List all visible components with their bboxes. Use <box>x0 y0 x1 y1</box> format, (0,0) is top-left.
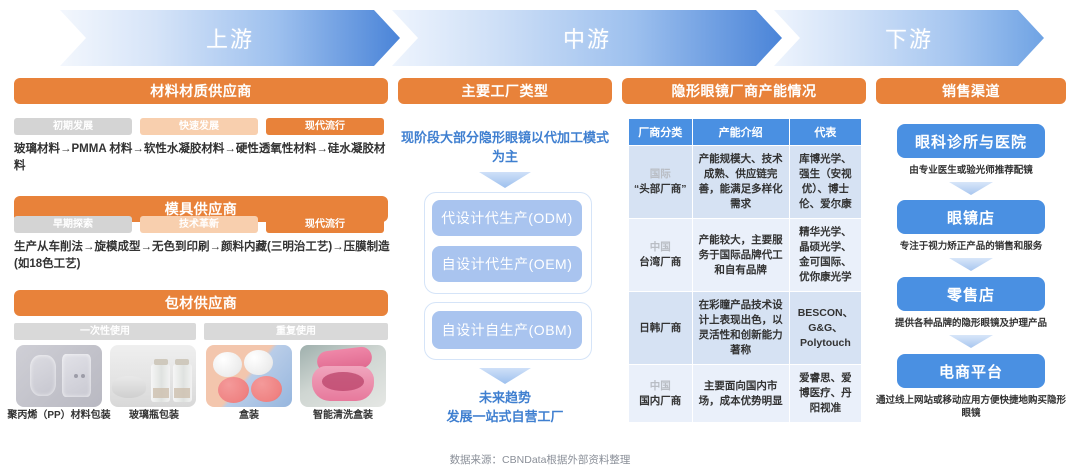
stage-arrow-upstream-label: 上游 <box>206 22 254 54</box>
cell-category-taiwan-main: 台湾厂商 <box>639 256 681 268</box>
section-header-material-supplier: 材料材质供应商 <box>14 78 388 104</box>
cell-category-domestic-dim: 中国 <box>650 380 671 392</box>
table-row: 中国 国内厂商 主要面向国内市场，成本优势明显 爱睿思、爱博医疗、丹阳视准 <box>629 365 862 423</box>
stage-arrow-bar: 上游 中游 下游 <box>0 10 1080 66</box>
cell-reps-international: 库博光学、强生（安视优）、博士伦、爱尔康 <box>789 146 861 219</box>
cell-category-taiwan: 中国 台湾厂商 <box>629 219 693 292</box>
stage-tag-mold-1: 早期探索 <box>14 216 132 233</box>
cell-category-international-main: “头部厂商” <box>634 183 687 195</box>
chevron-down-icon-channel-1 <box>949 182 993 195</box>
table-row: 日韩厂商 在彩瞳产品技术设计上表现出色，以灵活性和创新能力著称 BESCON、G… <box>629 292 862 365</box>
table-row: 国际 “头部厂商” 产能规模大、技术成熟、供应链完善，能满足多样化需求 库博光学… <box>629 146 862 219</box>
stage-tag-mold-2: 技术革新 <box>140 216 258 233</box>
cell-capacity-international: 产能规模大、技术成熟、供应链完善，能满足多样化需求 <box>692 146 789 219</box>
col-header-representatives: 代表 <box>789 119 861 146</box>
thumbnail-glass-vial <box>110 345 196 407</box>
channel-clinic-hospital-desc: 由专业医生或验光师推荐配镜 <box>876 164 1066 177</box>
channel-optical-store-desc: 专注于视力矫正产品的销售和服务 <box>876 240 1066 253</box>
thumbnail-caption-pp: 聚丙烯（PP）材料包装 <box>6 409 112 422</box>
factory-note-top: 现阶段大部分隐形眼镜以代加工模式为主 <box>400 128 610 166</box>
chevron-down-icon-top <box>479 172 531 188</box>
cell-category-japan-korea: 日韩厂商 <box>629 292 693 365</box>
col-header-capacity: 产能介绍 <box>692 119 789 146</box>
infographic-canvas: 上游 中游 下游 材料材质供应商 初期发展 快速发展 现代流行 玻璃材料→PMM… <box>0 0 1080 476</box>
section-header-packaging-supplier: 包材供应商 <box>14 290 388 316</box>
cell-category-domestic: 中国 国内厂商 <box>629 365 693 423</box>
stage-tag-mold-3: 现代流行 <box>266 216 384 233</box>
material-flow-text: 玻璃材料→PMMA 材料→软性水凝胶材料→硬性透氧性材料→硅水凝胶材料 <box>14 141 390 175</box>
cell-category-taiwan-dim: 中国 <box>650 241 671 253</box>
col-header-category: 厂商分类 <box>629 119 693 146</box>
cell-reps-taiwan: 精华光学、晶硕光学、金可国际、优你康光学 <box>789 219 861 292</box>
model-odm[interactable]: 代设计代生产(ODM) <box>432 200 582 236</box>
chevron-down-icon-channel-2 <box>949 258 993 271</box>
stage-arrow-upstream: 上游 <box>60 10 400 66</box>
chevron-down-icon-bottom <box>479 368 531 384</box>
cell-capacity-japan-korea: 在彩瞳产品技术设计上表现出色，以灵活性和创新能力著称 <box>692 292 789 365</box>
model-oem[interactable]: 自设计代生产(OEM) <box>432 246 582 282</box>
section-header-capacity: 隐形眼镜厂商产能情况 <box>622 78 866 104</box>
cell-reps-domestic: 爱睿思、爱博医疗、丹阳视准 <box>789 365 861 423</box>
stage-arrow-downstream: 下游 <box>774 10 1044 66</box>
table-header-row: 厂商分类 产能介绍 代表 <box>629 119 862 146</box>
cell-category-international: 国际 “头部厂商” <box>629 146 693 219</box>
thumbnail-smart-cleaner <box>300 345 386 407</box>
channel-retail-store[interactable]: 零售店 <box>897 277 1045 311</box>
stage-tag-material-1: 初期发展 <box>14 118 132 135</box>
channel-retail-store-desc: 提供各种品牌的隐形眼镜及护理产品 <box>876 317 1066 330</box>
channel-clinic-hospital[interactable]: 眼科诊所与医院 <box>897 124 1045 158</box>
source-note: 数据来源：CBNData根据外部资料整理 <box>0 452 1080 467</box>
cell-category-domestic-main: 国内厂商 <box>639 395 681 407</box>
model-obm[interactable]: 自设计自生产(OBM) <box>432 311 582 349</box>
channel-optical-store[interactable]: 眼镜店 <box>897 200 1045 234</box>
section-header-factory-type: 主要工厂类型 <box>398 78 612 104</box>
mold-flow-text: 生产从车削法→旋模成型→无色到印刷→颜料内藏(三明治工艺)→压膜制造(如18色工… <box>14 239 390 273</box>
thumbnail-caption-case: 盒装 <box>204 409 294 422</box>
capacity-table: 厂商分类 产能介绍 代表 国际 “头部厂商” 产能规模大、技术成熟、供应链完善，… <box>628 118 862 423</box>
cell-reps-japan-korea: BESCON、G&G、Polytouch <box>789 292 861 365</box>
thumbnail-caption-cleaner: 智能清洗盒装 <box>292 409 394 422</box>
packaging-group-reusable: 重复使用 <box>204 323 388 340</box>
stage-tag-material-3: 现代流行 <box>266 118 384 135</box>
cell-category-international-dim: 国际 <box>650 168 671 180</box>
thumbnail-lens-case <box>206 345 292 407</box>
chevron-down-icon-channel-3 <box>949 335 993 348</box>
thumbnail-caption-glass: 玻璃瓶包装 <box>108 409 200 422</box>
section-header-sales-channel: 销售渠道 <box>876 78 1066 104</box>
packaging-group-single-use: 一次性使用 <box>14 323 196 340</box>
cell-capacity-taiwan: 产能较大，主要服务于国际品牌代工和自有品牌 <box>692 219 789 292</box>
channel-ecommerce[interactable]: 电商平台 <box>897 354 1045 388</box>
stage-arrow-downstream-label: 下游 <box>885 22 933 54</box>
factory-note-bottom-line1: 未来趋势 <box>400 388 610 407</box>
cell-capacity-domestic: 主要面向国内市场，成本优势明显 <box>692 365 789 423</box>
table-row: 中国 台湾厂商 产能较大，主要服务于国际品牌代工和自有品牌 精华光学、晶硕光学、… <box>629 219 862 292</box>
stage-arrow-midstream: 中游 <box>392 10 782 66</box>
stage-tag-material-2: 快速发展 <box>140 118 258 135</box>
channel-ecommerce-desc: 通过线上网站或移动应用方便快捷地购买隐形眼镜 <box>876 394 1066 420</box>
thumbnail-pp-blister <box>16 345 102 407</box>
stage-arrow-midstream-label: 中游 <box>563 22 611 54</box>
factory-note-bottom-line2: 发展一站式自营工厂 <box>400 407 610 426</box>
